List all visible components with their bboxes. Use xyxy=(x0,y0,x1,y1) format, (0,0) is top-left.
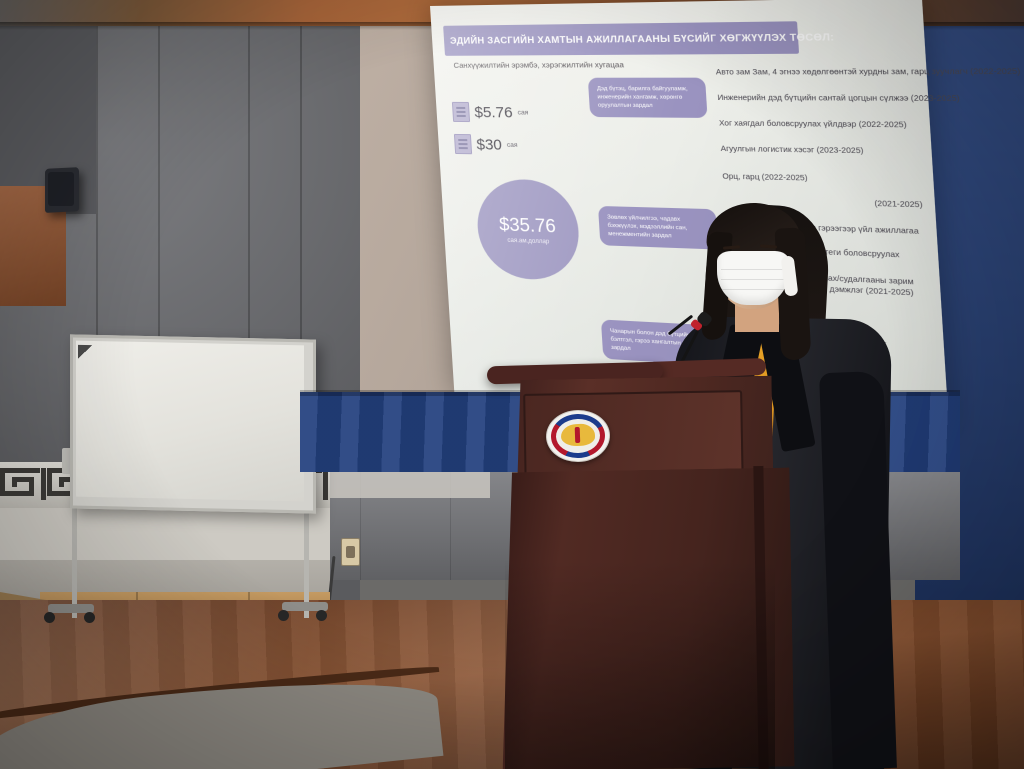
presentation-scene-photo: ЭДИЙН ЗАСГИЙН ХАМТЫН АЖИЛЛАГААНЫ БҮСИЙГ … xyxy=(0,0,1024,769)
whiteboard-wheel-3 xyxy=(278,610,289,621)
speaker-grille xyxy=(48,172,74,206)
power-socket-icon xyxy=(341,538,360,566)
whiteboard-leg-right xyxy=(304,498,309,618)
whiteboard-corner-clip xyxy=(78,345,92,359)
whiteboard-leg-left xyxy=(72,498,77,618)
podium-shadow xyxy=(505,560,775,769)
face-mask xyxy=(717,251,789,305)
meander-unit xyxy=(0,468,52,500)
whiteboard-wheel-2 xyxy=(84,612,95,623)
meander-border-right xyxy=(330,468,490,498)
whiteboard-wheel-4 xyxy=(316,610,327,621)
whiteboard-wheel-1 xyxy=(44,612,55,623)
whiteboard-surface[interactable] xyxy=(76,341,304,502)
